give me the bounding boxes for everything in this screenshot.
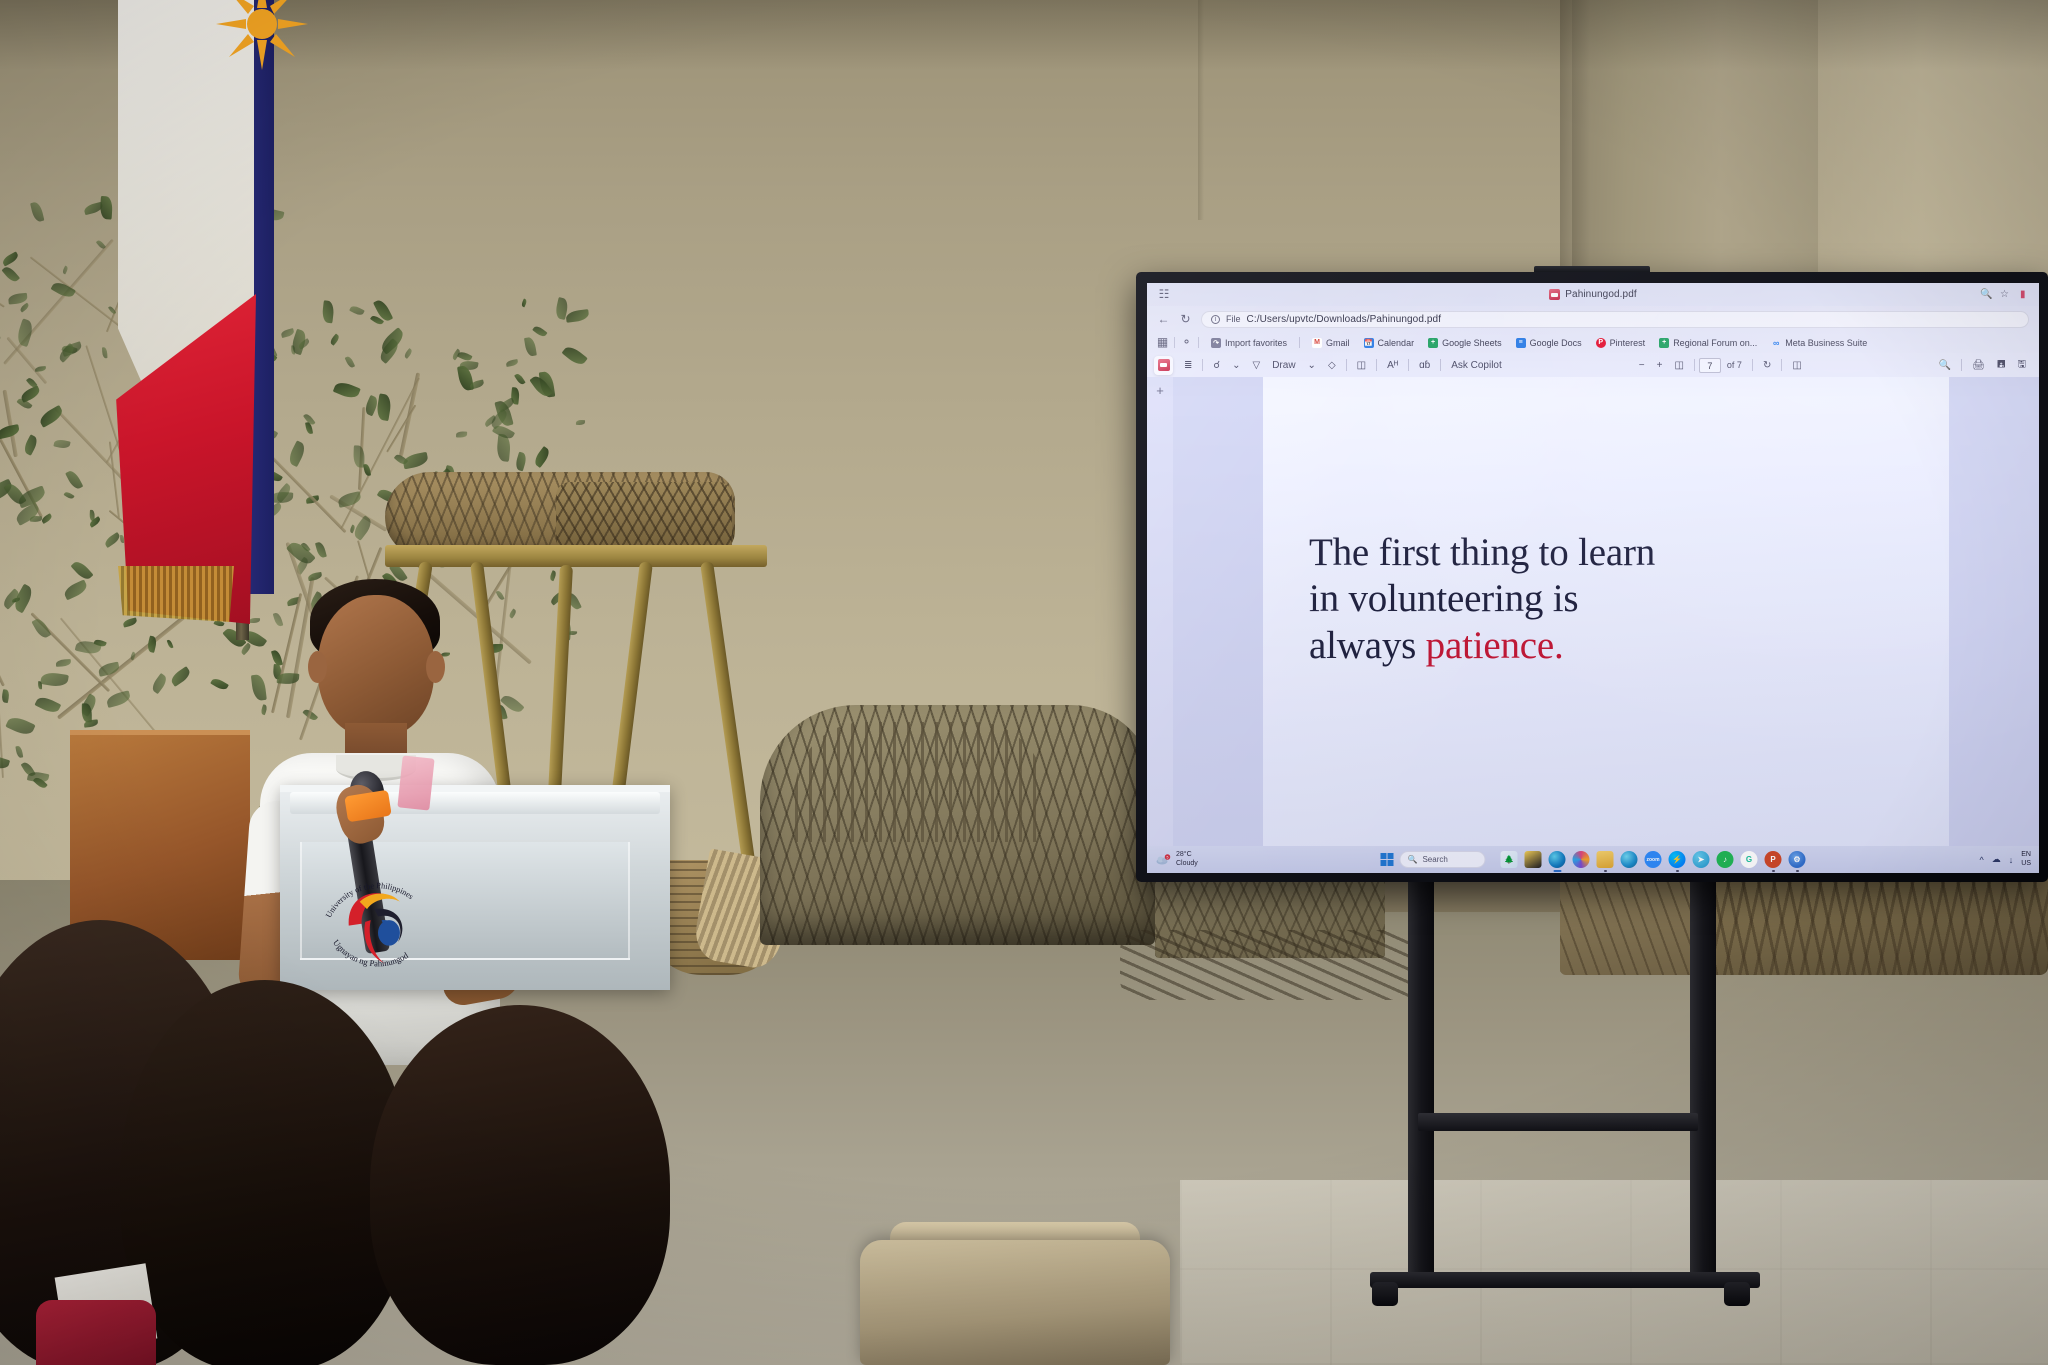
edge-icon[interactable]	[1549, 851, 1566, 868]
add-text-icon[interactable]: ◫	[1351, 360, 1372, 371]
highlighter-icon[interactable]: ☌	[1207, 360, 1226, 371]
head	[318, 595, 434, 737]
plant-leaf	[6, 713, 37, 737]
plant-leaf	[532, 324, 547, 338]
language-code: EN	[2021, 851, 2031, 859]
bookmark-regional-forum[interactable]: + Regional Forum on...	[1652, 338, 1764, 348]
pdf-left-rail: +	[1147, 377, 1173, 846]
bookmark-meta-business-suite[interactable]: ∞ Meta Business Suite	[1764, 338, 1874, 348]
titlebar-right-icons: 🔍 ☆ ▮	[1980, 289, 2031, 300]
chevron-up-icon[interactable]: ^	[1980, 855, 1984, 865]
page-view-icon[interactable]: ◫	[1786, 360, 1807, 371]
plant-leaf	[525, 336, 538, 357]
tv-bezel: ☷ Pahinungod.pdf 🔍 ☆ ▮ ←	[1136, 272, 2048, 882]
eraser-icon[interactable]: ◇	[1322, 360, 1342, 371]
audience-head-center	[120, 980, 410, 1365]
plant-leaf	[333, 380, 361, 401]
plant-leaf	[303, 412, 316, 426]
flag-fringe	[118, 566, 234, 622]
pdf-file-icon	[1549, 289, 1560, 300]
taskbar-search-box[interactable]: 🔍 Search	[1400, 851, 1486, 868]
file-explorer-icon[interactable]	[1525, 851, 1542, 868]
ask-copilot-button[interactable]: Ask Copilot	[1445, 360, 1508, 371]
plant-leaf	[514, 452, 528, 472]
cloud-icon[interactable]: ☁	[1992, 854, 2001, 865]
messenger-icon[interactable]: ⚡	[1669, 851, 1686, 868]
plant-leaf	[71, 558, 94, 582]
plant-branch	[0, 593, 5, 686]
plant-leaf	[16, 746, 24, 759]
telegram-icon[interactable]: ➤	[1693, 851, 1710, 868]
plant-leaf	[329, 333, 341, 345]
plant-leaf	[514, 372, 525, 385]
photo-scene: ☷ Pahinungod.pdf 🔍 ☆ ▮ ←	[0, 0, 2048, 1365]
slide-line-2: in volunteering is	[1309, 576, 1655, 622]
plant-leaf	[30, 516, 43, 523]
divider	[1694, 359, 1695, 371]
search-icon[interactable]: 🔍	[1933, 360, 1957, 371]
meta-icon: ∞	[1771, 338, 1781, 348]
fit-page-icon[interactable]: ◫	[1668, 360, 1689, 371]
language-indicator[interactable]: EN US	[2021, 851, 2031, 868]
chair	[860, 1240, 1170, 1365]
bookmark-label: Google Sheets	[1442, 338, 1502, 348]
tv-stand-post-right	[1690, 880, 1716, 1280]
plant-leaf	[167, 639, 174, 649]
pdf-document-icon[interactable]	[1154, 356, 1173, 375]
plant-leaf	[286, 538, 315, 567]
plant-leaf	[35, 366, 46, 372]
divider	[1440, 359, 1441, 371]
bookmark-google-sheets[interactable]: + Google Sheets	[1421, 338, 1509, 348]
plant-leaf	[315, 541, 327, 558]
search-icon[interactable]: 🔍	[1980, 289, 1991, 300]
ear-left	[308, 651, 327, 683]
plant-leaf	[549, 569, 558, 581]
plant-leaf	[505, 359, 518, 367]
bookmark-label: Pinterest	[1610, 338, 1646, 348]
slide-line-3: always patience.	[1309, 623, 1655, 669]
bookmark-label: Regional Forum on...	[1673, 338, 1757, 348]
bookmark-gmail[interactable]: M Gmail	[1305, 338, 1357, 348]
slide-line-1: The first thing to learn	[1309, 530, 1655, 576]
divider	[1781, 359, 1782, 371]
plant-leaf	[337, 492, 362, 508]
tv-stand-base	[1370, 1272, 1760, 1288]
plant-leaf	[53, 438, 70, 449]
pdf-page-canvas: The first thing to learn in volunteering…	[1263, 377, 1949, 846]
plant-leaf	[30, 201, 45, 223]
print-icon[interactable]: 🖨	[1966, 360, 1991, 371]
plant-leaf	[22, 434, 39, 456]
divider	[1174, 337, 1175, 348]
plant-leaf	[1, 252, 20, 267]
plant-leaf	[65, 468, 84, 491]
stand-caster-left	[1372, 1282, 1398, 1306]
plant-leaf	[63, 491, 75, 501]
plant-leaf	[32, 617, 52, 641]
plant-leaf	[40, 671, 68, 688]
weather-condition: Cloudy	[1176, 860, 1198, 869]
reload-icon[interactable]: ↻	[1179, 313, 1192, 326]
weather-temperature: 28°C	[1176, 851, 1198, 860]
windows-taskbar: 5 28°C Cloudy 🔍 Search	[1147, 846, 2039, 873]
spotify-icon[interactable]: ♪	[1717, 851, 1734, 868]
plant-leaf	[521, 299, 528, 308]
browser-navbar: ← ↻ i File C:/Users/upvtc/Downloads/Pahi…	[1147, 306, 2039, 332]
divider	[1376, 359, 1377, 371]
id-badge	[397, 755, 434, 810]
pdf-toolbar: ≣ ☌ ⌄ ▽ Draw ⌄ ◇ ◫ Aᴴ ɑɓ	[1147, 353, 2039, 377]
wall-mounted-tv: ☷ Pahinungod.pdf 🔍 ☆ ▮ ←	[1136, 272, 2048, 882]
weather-widget[interactable]: 5 28°C Cloudy	[1156, 851, 1198, 868]
plant-leaf	[2, 265, 20, 284]
divider	[1299, 337, 1300, 348]
taskbar-center: 🔍 Search 🌲 zoom ⚡	[1381, 851, 1806, 868]
plant-leaf	[18, 302, 30, 312]
slide-line-3-prefix: always	[1309, 624, 1426, 667]
pinterest-icon: P	[1596, 338, 1606, 348]
download-arrow-icon[interactable]: ↓	[2009, 855, 2014, 865]
plant-leaf	[210, 677, 228, 692]
weather-text: 28°C Cloudy	[1176, 851, 1198, 868]
plant-leaf	[456, 432, 467, 438]
divider	[1961, 359, 1962, 371]
divider	[1202, 359, 1203, 371]
back-arrow-icon[interactable]: ←	[1157, 313, 1170, 326]
slide-highlight-word: patience.	[1426, 624, 1564, 667]
zoom-icon[interactable]: zoom	[1645, 851, 1662, 868]
tv-screen: ☷ Pahinungod.pdf 🔍 ☆ ▮ ←	[1147, 283, 2039, 873]
taskbar-app-list: 🌲 zoom ⚡ ➤ ♪ G P	[1501, 851, 1806, 868]
rotate-icon[interactable]: ↻	[1757, 360, 1777, 371]
tv-stand-shelf	[1418, 1113, 1698, 1131]
divider	[1346, 359, 1347, 371]
page-number-input[interactable]: 7	[1699, 358, 1721, 373]
page-total-label: of 7	[1721, 360, 1748, 370]
sidebar-add-button[interactable]: +	[1156, 384, 1164, 397]
browser-titlebar: ☷ Pahinungod.pdf 🔍 ☆ ▮	[1147, 283, 2039, 306]
divider	[1408, 359, 1409, 371]
gmail-icon: M	[1312, 338, 1322, 348]
plant-leaf	[376, 393, 393, 420]
plant-leaf	[307, 572, 322, 581]
plant-leaf	[345, 355, 355, 368]
plant-leaf	[321, 300, 335, 324]
audience-head-right	[370, 1005, 670, 1365]
powerpoint-icon[interactable]: P	[1765, 851, 1782, 868]
plant-leaf	[576, 420, 585, 425]
windows-start-icon[interactable]	[1381, 853, 1394, 866]
browser-essentials-icon[interactable]: ⚬	[1180, 336, 1193, 349]
import-icon: ↷	[1211, 338, 1221, 348]
tab-title: Pahinungod.pdf	[1565, 289, 1636, 300]
bookmark-label: Calendar	[1378, 338, 1415, 348]
search-icon: 🔍	[1408, 855, 1418, 864]
zoom-out-button[interactable]: −	[1633, 360, 1651, 371]
pdf-extension-icon[interactable]: ▮	[2020, 289, 2031, 300]
divider	[1752, 359, 1753, 371]
address-bar[interactable]: i File C:/Users/upvtc/Downloads/Pahinung…	[1201, 311, 2029, 328]
plant-leaf	[129, 651, 136, 660]
plant-leaf	[150, 673, 169, 694]
browser-tab[interactable]: Pahinungod.pdf	[1549, 289, 1636, 300]
plant-leaf	[0, 332, 2, 348]
search-placeholder: Search	[1422, 855, 1447, 864]
pdf-document-area: + The first thing to learn in volunteeri…	[1147, 377, 2039, 846]
plant-leaf	[532, 446, 552, 468]
plant-leaf	[281, 328, 295, 338]
zoom-in-button[interactable]: +	[1651, 360, 1669, 371]
language-sub: US	[2021, 860, 2031, 868]
tv-stand-post-left	[1408, 880, 1434, 1280]
highlighter-chevron-icon[interactable]: ⌄	[1226, 360, 1246, 371]
floor-debris	[1120, 930, 1420, 1000]
flag-sun-icon	[202, 0, 322, 84]
draw-pen-icon[interactable]: ▽	[1247, 360, 1267, 371]
translate-icon[interactable]: ɑɓ	[1413, 360, 1436, 371]
up-pahinungod-logo: University of the Philippines Ugnayan ng…	[314, 861, 442, 981]
read-aloud-icon[interactable]: Aᴴ	[1381, 360, 1404, 371]
ear-right	[426, 651, 445, 683]
plant-leaf	[169, 666, 192, 687]
plant-leaf	[349, 305, 364, 317]
docs-icon: ≡	[1516, 338, 1526, 348]
plant-leaf	[18, 385, 41, 403]
table-of-contents-icon[interactable]: ≣	[1178, 360, 1198, 371]
stand-caster-right	[1724, 1282, 1750, 1306]
bookmark-calendar[interactable]: 📅 Calendar	[1357, 338, 1422, 348]
philippine-flag	[98, 0, 274, 624]
save-as-icon[interactable]: 🖫	[2011, 357, 2032, 374]
edge-beta-icon[interactable]	[1621, 851, 1638, 868]
plant-leaf	[56, 658, 71, 666]
bookmarks-bar: ▦ ⚬ ↷ Import favorites M Gmail	[1147, 332, 2039, 353]
plant-leaf	[403, 348, 413, 359]
settings-icon[interactable]: ⚙	[1789, 851, 1806, 868]
bookmark-label: Gmail	[1326, 338, 1350, 348]
plant-leaf	[105, 690, 132, 708]
slide-quote-text: The first thing to learn in volunteering…	[1309, 530, 1655, 669]
favorites-star-icon[interactable]: ☆	[2000, 289, 2011, 300]
collections-panel-icon[interactable]: ▦	[1156, 336, 1169, 349]
audience-red-shirt	[36, 1300, 156, 1365]
plant-leaf	[63, 579, 89, 600]
bookmark-pinterest[interactable]: P Pinterest	[1589, 338, 1653, 348]
info-circle-icon[interactable]: i	[1211, 315, 1220, 324]
collections-icon[interactable]: ☷	[1157, 287, 1171, 301]
divider	[1198, 337, 1199, 348]
address-bar-url: C:/Users/upvtc/Downloads/Pahinungod.pdf	[1247, 314, 1442, 325]
plant-leaf	[363, 463, 371, 476]
sheets-icon: +	[1428, 338, 1438, 348]
plant-leaf	[35, 695, 62, 716]
bookmark-google-docs[interactable]: ≡ Google Docs	[1509, 338, 1589, 348]
edge-browser-window: ☷ Pahinungod.pdf 🔍 ☆ ▮ ←	[1147, 283, 2039, 873]
folder-icon[interactable]	[1597, 851, 1614, 868]
file-chip-label: File	[1226, 314, 1241, 324]
bookmark-label: Import favorites	[1225, 338, 1287, 348]
svg-text:5: 5	[1167, 856, 1169, 860]
widgets-icon[interactable]: 🌲	[1501, 851, 1518, 868]
sheets-icon: +	[1659, 338, 1669, 348]
plant-leaf	[1, 689, 10, 703]
draw-label[interactable]: Draw	[1266, 360, 1301, 371]
plant-leaf	[402, 451, 429, 468]
copilot-icon[interactable]	[1573, 851, 1590, 868]
bookmark-label: Meta Business Suite	[1785, 338, 1867, 348]
calendar-icon: 📅	[1364, 338, 1374, 348]
bookmark-label: Google Docs	[1530, 338, 1582, 348]
system-tray: ^ ☁ ↓ EN US	[1980, 851, 2031, 868]
cloud-icon: 5	[1156, 854, 1171, 865]
grammarly-icon[interactable]: G	[1741, 851, 1758, 868]
bookmark-import-favorites[interactable]: ↷ Import favorites	[1204, 338, 1294, 348]
plant-leaf	[61, 266, 68, 275]
draw-chevron-icon[interactable]: ⌄	[1302, 360, 1322, 371]
fish-trap-spokes	[795, 722, 1045, 842]
save-icon[interactable]: 🖪	[1991, 357, 2012, 374]
